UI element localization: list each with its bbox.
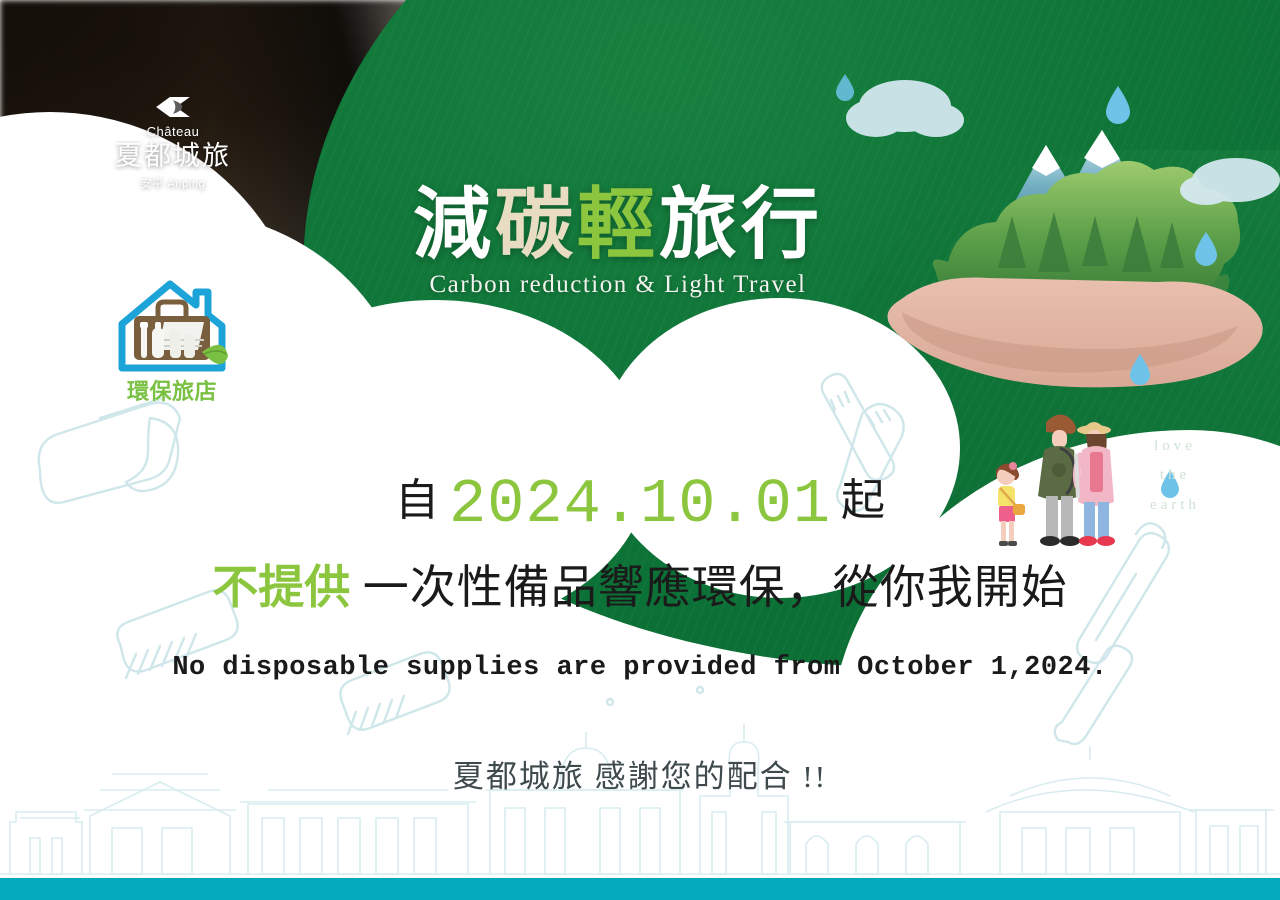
- slogan-line-1: love: [1150, 432, 1200, 461]
- poster-headline: 減碳輕旅行 Carbon reduction & Light Travel: [398, 186, 838, 297]
- policy-line-english: No disposable supplies are provided from…: [0, 653, 1280, 683]
- chateau-diamond-logo-icon: [150, 92, 196, 122]
- eco-hotel-badge: 環保旅店: [112, 272, 232, 402]
- logo-chinese-name: 夏都城旅: [108, 142, 238, 172]
- thanks-line: 夏都城旅 感謝您的配合 !!: [0, 751, 1280, 796]
- policy-line: 不提供 一次性備品響應環保，從你我開始: [0, 551, 1280, 617]
- headline-char-4: 旅行: [659, 181, 823, 268]
- headline-char-1: 減: [413, 181, 495, 268]
- eco-hotel-house-suitcase-icon: [112, 272, 232, 380]
- policy-highlight: 不提供: [212, 561, 350, 613]
- date-suffix: 起: [841, 476, 885, 525]
- headline-chinese: 減碳輕旅行: [398, 186, 838, 264]
- policy-rest: 一次性備品響應環保，從你我開始: [363, 562, 1068, 613]
- headline-char-2: 碳: [495, 181, 577, 268]
- logo-branch-name: 安平 Anping: [108, 175, 238, 191]
- effective-date-line: 自2024.10.01起: [0, 472, 1280, 537]
- bottom-accent-bar: [0, 878, 1280, 900]
- announcement-message: 自2024.10.01起 不提供 一次性備品響應環保，從你我開始 No disp…: [0, 472, 1280, 796]
- hotel-logo: Château 夏都城旅 安平 Anping: [108, 92, 238, 191]
- eco-badge-label: 環保旅店: [112, 374, 232, 406]
- logo-latin-name: Château: [108, 124, 238, 139]
- headline-english: Carbon reduction & Light Travel: [398, 272, 838, 297]
- date-prefix: 自: [395, 476, 439, 525]
- effective-date: 2024.10.01: [449, 469, 831, 540]
- headline-char-3: 輕: [577, 181, 659, 268]
- eco-travel-poster: Château 夏都城旅 安平 Anping 環保旅店: [0, 0, 1280, 900]
